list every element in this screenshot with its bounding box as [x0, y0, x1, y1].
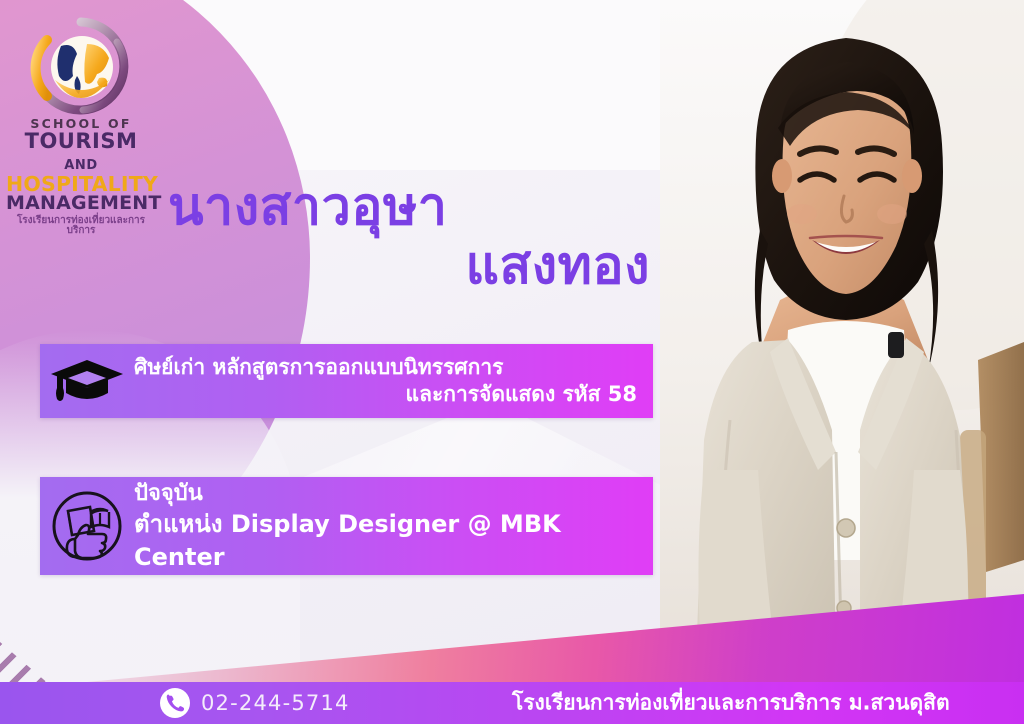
logo-wordmark: SCHOOL OF TOURISM AND HOSPITALITY MANAGE… — [6, 118, 156, 236]
footer-bar: 02-244-5714 โรงเรียนการท่องเที่ยวและการบ… — [0, 682, 1024, 724]
person-name-line2: แสงทอง — [160, 237, 660, 296]
phone-icon — [160, 688, 190, 718]
globe-logo-icon — [21, 14, 141, 122]
alumni-banner[interactable]: ศิษย์เก่า หลักสูตรการออกแบบนิทรรศการ และ… — [40, 344, 653, 418]
poster-card: SCHOOL OF TOURISM AND HOSPITALITY MANAGE… — [0, 0, 1024, 724]
person-name: นางสาวอุษา แสงทอง — [160, 178, 660, 297]
display-design-icon — [40, 489, 134, 563]
footer-phone-number: 02-244-5714 — [201, 691, 350, 715]
person-name-line1: นางสาวอุษา — [160, 178, 660, 237]
school-logo: SCHOOL OF TOURISM AND HOSPITALITY MANAGE… — [6, 14, 156, 184]
current-position-text: ปัจจุบัน ตำแหน่ง Display Designer @ MBK … — [134, 479, 653, 573]
logo-line-thai: โรงเรียนการท่องเที่ยวและการบริการ — [6, 216, 156, 236]
alumni-line2: และการจัดแสดง รหัส 58 — [134, 381, 637, 408]
portrait-photo — [660, 0, 1024, 682]
alumni-line1: ศิษย์เก่า หลักสูตรการออกแบบนิทรรศการ — [134, 354, 637, 381]
footer-phone-group[interactable]: 02-244-5714 — [160, 688, 350, 718]
logo-tourism-text: TOURISM — [25, 129, 138, 153]
logo-line-tourism: TOURISM AND — [6, 131, 156, 174]
footer-school-name: โรงเรียนการท่องเที่ยวและการบริการ ม.สวนด… — [512, 687, 950, 720]
logo-and-text: AND — [64, 158, 98, 173]
current-position-banner[interactable]: ปัจจุบัน ตำแหน่ง Display Designer @ MBK … — [40, 477, 653, 575]
logo-line-hospitality: HOSPITALITY — [6, 174, 156, 195]
logo-line-management: MANAGEMENT — [6, 194, 156, 213]
alumni-banner-text: ศิษย์เก่า หลักสูตรการออกแบบนิทรรศการ และ… — [134, 354, 653, 409]
current-line1: ปัจจุบัน — [134, 479, 637, 509]
current-line2: ตำแหน่ง Display Designer @ MBK Center — [134, 508, 637, 573]
graduation-cap-icon — [40, 355, 134, 407]
